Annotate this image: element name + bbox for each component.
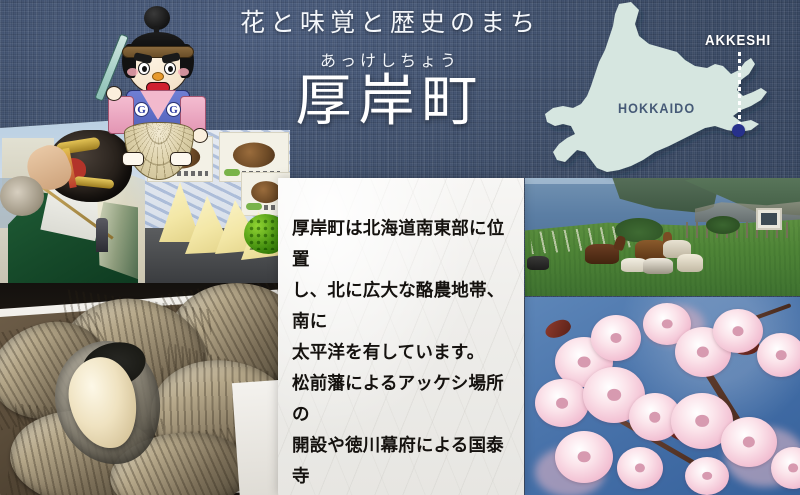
town-name-title: 厚岸町: [205, 73, 575, 132]
mascot-foot-right: [170, 152, 192, 166]
photo-horse-6: [677, 254, 703, 272]
mascot-crest-left: G: [134, 102, 149, 117]
akkeshi-town-banner: HOKKAIDO AKKESHI 花と味覚と歴史のまち あっけしちょう 厚岸町: [0, 0, 800, 495]
photo-blossom-15: [685, 457, 729, 495]
akkeshi-mascot-character: G G: [100, 6, 210, 166]
mascot-eye-left: [138, 62, 150, 75]
tagline-text: 花と味覚と歴史のまち: [205, 8, 575, 39]
photo-shrub-2: [706, 216, 740, 234]
photo-bystander: [96, 218, 108, 252]
photo-blossom-2: [591, 315, 641, 361]
photo-signboard: [756, 208, 782, 230]
furigana-text: あっけしちょう: [205, 47, 575, 71]
photo-blossom-3: [535, 379, 589, 427]
hokkaido-landmass: [545, 2, 767, 172]
mascot-crest-right: G: [166, 102, 181, 117]
photo-package-art: [251, 181, 281, 203]
pasture-horses-coastline-photo: [525, 178, 800, 296]
map-pointer-dotted-line: [738, 52, 741, 127]
cherry-blossom-photo: [525, 297, 800, 495]
photo-horse-5: [643, 258, 673, 274]
photo-blossom-13: [757, 333, 800, 377]
akkeshi-location-label: AKKESHI: [705, 32, 771, 49]
mascot-oyster-shell-body: [124, 122, 194, 180]
oysters-photo: [0, 283, 290, 495]
photo-package-badge: [224, 169, 240, 176]
description-panel: 厚岸町は北海道南東部に位置 し、北に広大な酪農地帯、南に 太平洋を有しています。…: [278, 178, 524, 495]
header-title-block: 花と味覚と歴史のまち あっけしちょう 厚岸町: [205, 8, 575, 132]
photo-blossom-6: [555, 431, 613, 483]
photo-horse-1: [585, 244, 619, 264]
mascot-hand-right: [192, 128, 208, 143]
photo-blossom-12: [721, 417, 777, 467]
photo-package-badge: [246, 203, 262, 210]
description-text: 厚岸町は北海道南東部に位置 し、北に広大な酪農地帯、南に 太平洋を有しています。…: [292, 214, 514, 495]
mascot-cheek-right: [178, 68, 189, 76]
mascot-cheek-left: [127, 68, 138, 76]
photo-horse-7: [527, 256, 549, 270]
hokkaido-region-label: HOKKAIDO: [618, 100, 695, 116]
photo-blossom-10: [713, 309, 763, 353]
mascot-hand-left: [106, 86, 122, 101]
mascot-headband: [122, 46, 194, 58]
mascot-foot-left: [122, 152, 144, 166]
akkeshi-map-pin: [732, 124, 745, 137]
photo-package-art: [233, 143, 275, 168]
photo-bell-rattle: [0, 176, 44, 216]
mascot-nose: [152, 72, 164, 81]
mascot-eye-right: [164, 62, 176, 75]
photo-blossom-7: [617, 447, 663, 489]
